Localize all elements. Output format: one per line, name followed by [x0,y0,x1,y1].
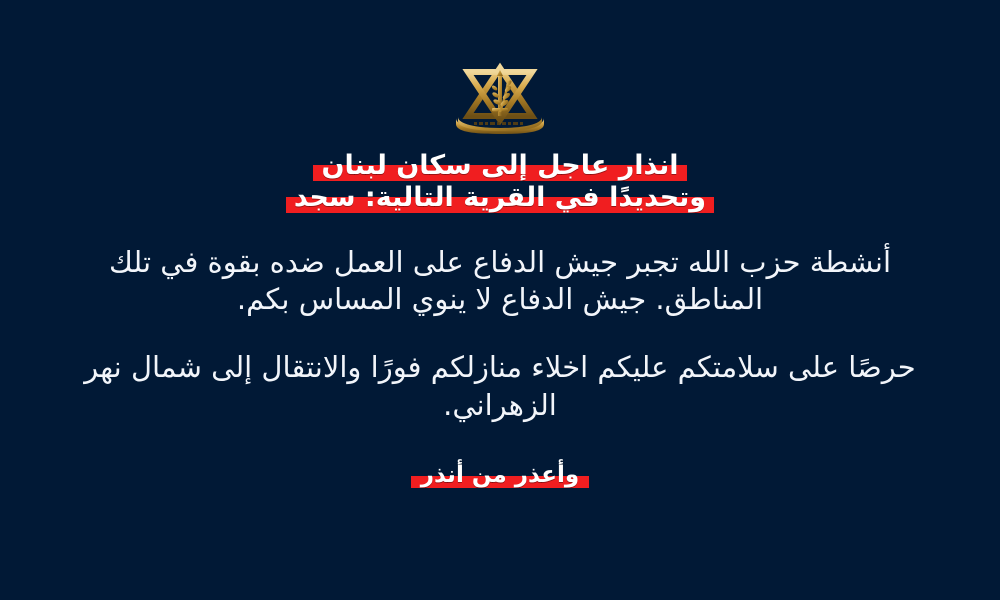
idf-emblem [440,62,560,134]
footer-slogan-text: وأعذر من أنذر [411,462,589,488]
headline-line-1-text: انذار عاجل إلى سكان لبنان [313,150,686,181]
evacuation-warning-poster: انذار عاجل إلى سكان لبنان وتحديدًا في ال… [0,0,1000,600]
headline-line-2: وتحديدًا في القرية التالية: سجد [0,182,1000,214]
footer-slogan: وأعذر من أنذر [0,462,1000,488]
banner-inscription [474,122,523,125]
headline-line-1: انذار عاجل إلى سكان لبنان [0,150,1000,182]
headline: انذار عاجل إلى سكان لبنان وتحديدًا في ال… [0,150,1000,214]
headline-line-2-text: وتحديدًا في القرية التالية: سجد [286,182,714,213]
body-paragraph-2: حرصًا على سلامتكم عليكم اخلاء منازلكم فو… [60,349,940,424]
body-text: أنشطة حزب الله تجبر جيش الدفاع على العمل… [60,244,940,425]
body-paragraph-1: أنشطة حزب الله تجبر جيش الدفاع على العمل… [60,244,940,319]
